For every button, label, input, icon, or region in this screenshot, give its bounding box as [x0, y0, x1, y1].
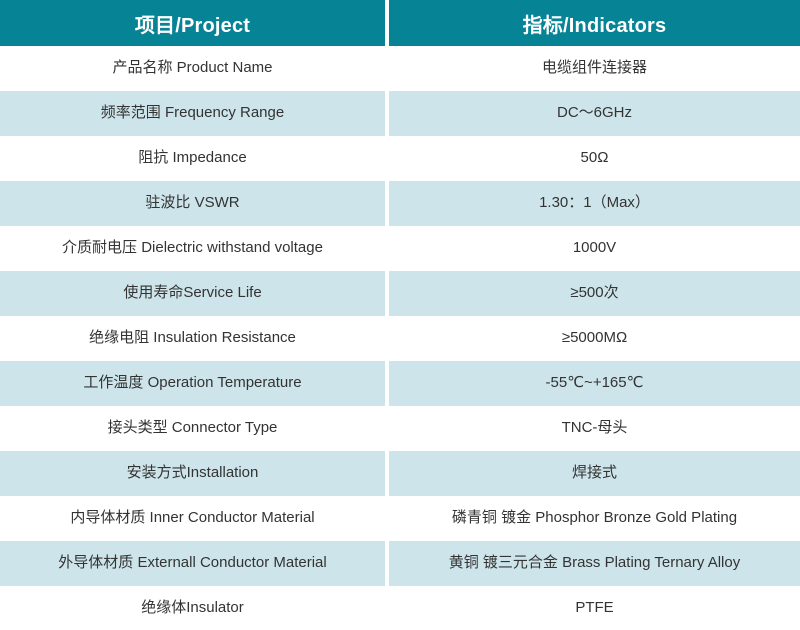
cell-project: 安装方式Installation: [0, 451, 389, 496]
table-row: 安装方式Installation焊接式: [0, 451, 800, 496]
cell-indicator: PTFE: [389, 586, 800, 630]
table-row: 介质耐电压 Dielectric withstand voltage1000V: [0, 226, 800, 271]
table-row: 绝缘电阻 Insulation Resistance≥5000MΩ: [0, 316, 800, 361]
table-row: 外导体材质 Externall Conductor Material黄铜 镀三元…: [0, 541, 800, 586]
table-row: 工作温度 Operation Temperature-55℃~+165℃: [0, 361, 800, 406]
table-row: 内导体材质 Inner Conductor Material磷青铜 镀金 Pho…: [0, 496, 800, 541]
product-specification-table: 项目/Project 指标/Indicators 产品名称 Product Na…: [0, 0, 800, 630]
table-row: 接头类型 Connector TypeTNC-母头: [0, 406, 800, 451]
cell-project: 绝缘体Insulator: [0, 586, 389, 630]
table-header-row: 项目/Project 指标/Indicators: [0, 0, 800, 46]
cell-indicator: 1.30：1（Max）: [389, 181, 800, 226]
cell-project: 绝缘电阻 Insulation Resistance: [0, 316, 389, 361]
cell-project: 驻波比 VSWR: [0, 181, 389, 226]
cell-project: 产品名称 Product Name: [0, 46, 389, 91]
cell-indicator: 50Ω: [389, 136, 800, 181]
column-header-project: 项目/Project: [0, 0, 389, 46]
table-row: 驻波比 VSWR1.30：1（Max）: [0, 181, 800, 226]
table-header: 项目/Project 指标/Indicators: [0, 0, 800, 46]
cell-project: 工作温度 Operation Temperature: [0, 361, 389, 406]
cell-project: 外导体材质 Externall Conductor Material: [0, 541, 389, 586]
cell-project: 介质耐电压 Dielectric withstand voltage: [0, 226, 389, 271]
table-row: 使用寿命Service Life≥500次: [0, 271, 800, 316]
column-header-indicators: 指标/Indicators: [389, 0, 800, 46]
cell-project: 接头类型 Connector Type: [0, 406, 389, 451]
table-body: 产品名称 Product Name电缆组件连接器频率范围 Frequency R…: [0, 46, 800, 630]
cell-indicator: ≥5000MΩ: [389, 316, 800, 361]
cell-project: 阻抗 Impedance: [0, 136, 389, 181]
table-row: 阻抗 Impedance50Ω: [0, 136, 800, 181]
cell-indicator: -55℃~+165℃: [389, 361, 800, 406]
cell-indicator: 黄铜 镀三元合金 Brass Plating Ternary Alloy: [389, 541, 800, 586]
cell-indicator: DC～6GHz: [389, 91, 800, 136]
cell-indicator: 焊接式: [389, 451, 800, 496]
cell-project: 频率范围 Frequency Range: [0, 91, 389, 136]
table-row: 产品名称 Product Name电缆组件连接器: [0, 46, 800, 91]
cell-indicator: 电缆组件连接器: [389, 46, 800, 91]
cell-project: 内导体材质 Inner Conductor Material: [0, 496, 389, 541]
cell-indicator: TNC-母头: [389, 406, 800, 451]
table-row: 绝缘体InsulatorPTFE: [0, 586, 800, 630]
cell-indicator: 磷青铜 镀金 Phosphor Bronze Gold Plating: [389, 496, 800, 541]
cell-project: 使用寿命Service Life: [0, 271, 389, 316]
cell-indicator: 1000V: [389, 226, 800, 271]
cell-indicator: ≥500次: [389, 271, 800, 316]
table-row: 频率范围 Frequency RangeDC～6GHz: [0, 91, 800, 136]
